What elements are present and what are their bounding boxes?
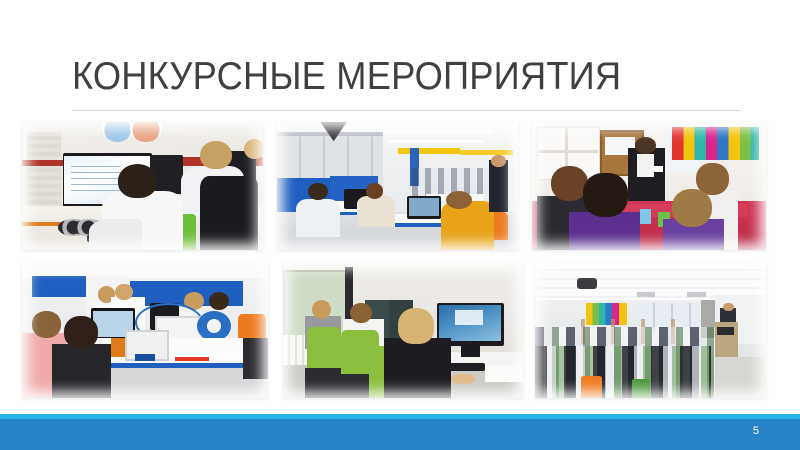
presentation-slide: КОНКУРСНЫЕ МЕРОПРИЯТИЯ [0,0,800,450]
footer-bar [0,419,800,450]
photo-auditorium-audience[interactable] [535,262,766,398]
photo-3d-printing-lab[interactable] [22,262,268,398]
photo-engineering-lab-overview[interactable] [277,122,518,250]
title-block: КОНКУРСНЫЕ МЕРОПРИЯТИЯ [72,54,744,110]
photo-computer-classroom-green-chairs[interactable] [283,262,523,398]
slide-number: 5 [753,424,759,438]
photo-grid [22,122,766,398]
photo-craft-workshop-teacher[interactable] [532,122,766,250]
page-title: КОНКУРСНЫЕ МЕРОПРИЯТИЯ [72,54,697,100]
photo-computer-class-two-students[interactable] [22,122,263,250]
title-divider [72,110,740,111]
